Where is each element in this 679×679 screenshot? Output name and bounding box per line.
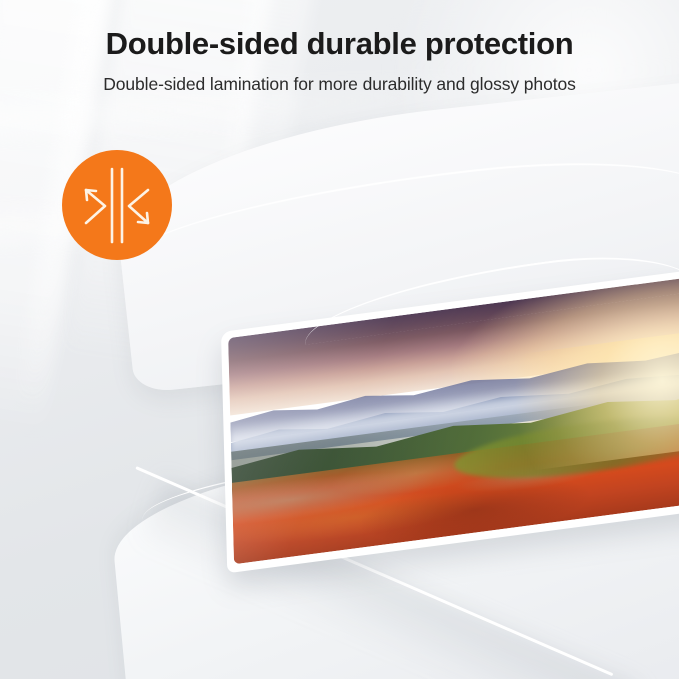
feature-banner: Double-sided durable protection Double-s… — [0, 0, 679, 679]
page-subtitle: Double-sided lamination for more durabil… — [0, 74, 679, 95]
double-sided-lamination-icon — [62, 150, 172, 260]
page-title: Double-sided durable protection — [0, 26, 679, 63]
text-block: Double-sided durable protection Double-s… — [0, 26, 679, 95]
double-sided-lamination-badge — [62, 150, 172, 260]
